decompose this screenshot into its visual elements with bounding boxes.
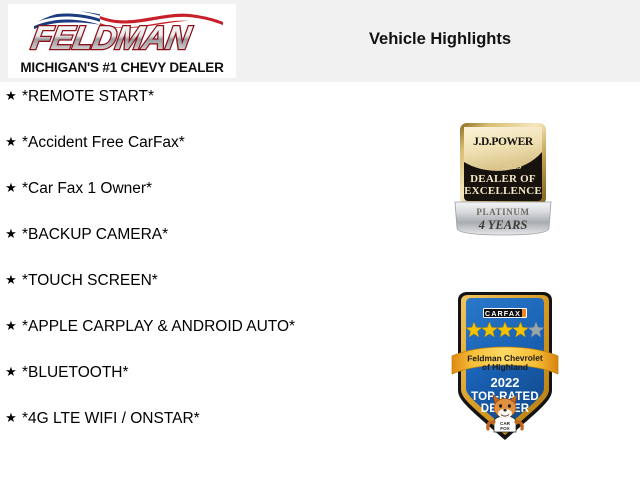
jd-power-duration: 4 YEARS — [478, 218, 528, 232]
carfax-year: 2022 — [491, 375, 520, 390]
jd-power-year: 2023 — [503, 162, 522, 172]
list-item: ★ *APPLE CARPLAY & ANDROID AUTO* — [0, 316, 330, 337]
list-item-label: *4G LTE WIFI / ONSTAR* — [22, 408, 330, 429]
star-bullet-icon: ★ — [0, 224, 22, 245]
star-bullet-icon: ★ — [0, 132, 22, 153]
list-item-label: *BLUETOOTH* — [22, 362, 330, 383]
list-item: ★ *BLUETOOTH* — [0, 362, 330, 383]
page-title: Vehicle Highlights — [300, 30, 580, 49]
list-item-label: *Car Fax 1 Owner* — [22, 178, 330, 199]
star-bullet-icon: ★ — [0, 86, 22, 107]
carfax-top-rated-dealer-badge: CARFAX Feldman Chevrolet of Highland 202… — [446, 288, 564, 448]
vehicle-highlights-list: ★ *REMOTE START* ★ *Accident Free CarFax… — [0, 86, 330, 454]
dealer-tagline: MICHIGAN'S #1 CHEVY DEALER — [8, 60, 236, 75]
vehicle-highlights-page: FELDMAN MICHIGAN'S #1 CHEVY DEALER Vehic… — [0, 0, 640, 480]
carfax-brand: CARFAX — [485, 309, 521, 318]
list-item-label: *TOUCH SCREEN* — [22, 270, 330, 291]
jd-power-brand: J.D.POWER — [473, 136, 534, 148]
list-item-label: *REMOTE START* — [22, 86, 330, 107]
page-header: FELDMAN MICHIGAN'S #1 CHEVY DEALER Vehic… — [0, 0, 640, 82]
star-bullet-icon: ★ — [0, 408, 22, 429]
list-item: ★ *TOUCH SCREEN* — [0, 270, 330, 291]
star-bullet-icon: ★ — [0, 362, 22, 383]
list-item: ★ *REMOTE START* — [0, 86, 330, 107]
carfax-logo-icon: CARFAX — [483, 308, 527, 318]
jd-power-award-line2: EXCELLENCE — [464, 185, 542, 197]
jd-power-award-line1: DEALER OF — [470, 173, 536, 185]
star-bullet-icon: ★ — [0, 178, 22, 199]
feldman-wordmark: FELDMAN — [14, 16, 230, 58]
star-bullet-icon: ★ — [0, 270, 22, 291]
svg-text:FELDMAN: FELDMAN — [29, 20, 195, 57]
jd-power-award-badge: J.D.POWER 2023 DEALER OF EXCELLENCE PLAT… — [449, 118, 557, 236]
list-item: ★ *BACKUP CAMERA* — [0, 224, 330, 245]
jd-power-tier: PLATINUM — [476, 207, 529, 217]
list-item-label: *APPLE CARPLAY & ANDROID AUTO* — [22, 316, 330, 337]
list-item: ★ *Accident Free CarFax* — [0, 132, 330, 153]
list-item: ★ *4G LTE WIFI / ONSTAR* — [0, 408, 330, 429]
list-item-label: *Accident Free CarFax* — [22, 132, 330, 153]
car-fox-shirt-line2: FOX — [500, 426, 510, 431]
carfax-dealer-line2: of Highland — [482, 362, 528, 372]
star-bullet-icon: ★ — [0, 316, 22, 337]
list-item-label: *BACKUP CAMERA* — [22, 224, 330, 245]
list-item: ★ *Car Fax 1 Owner* — [0, 178, 330, 199]
dealer-logo: FELDMAN MICHIGAN'S #1 CHEVY DEALER — [8, 4, 236, 78]
